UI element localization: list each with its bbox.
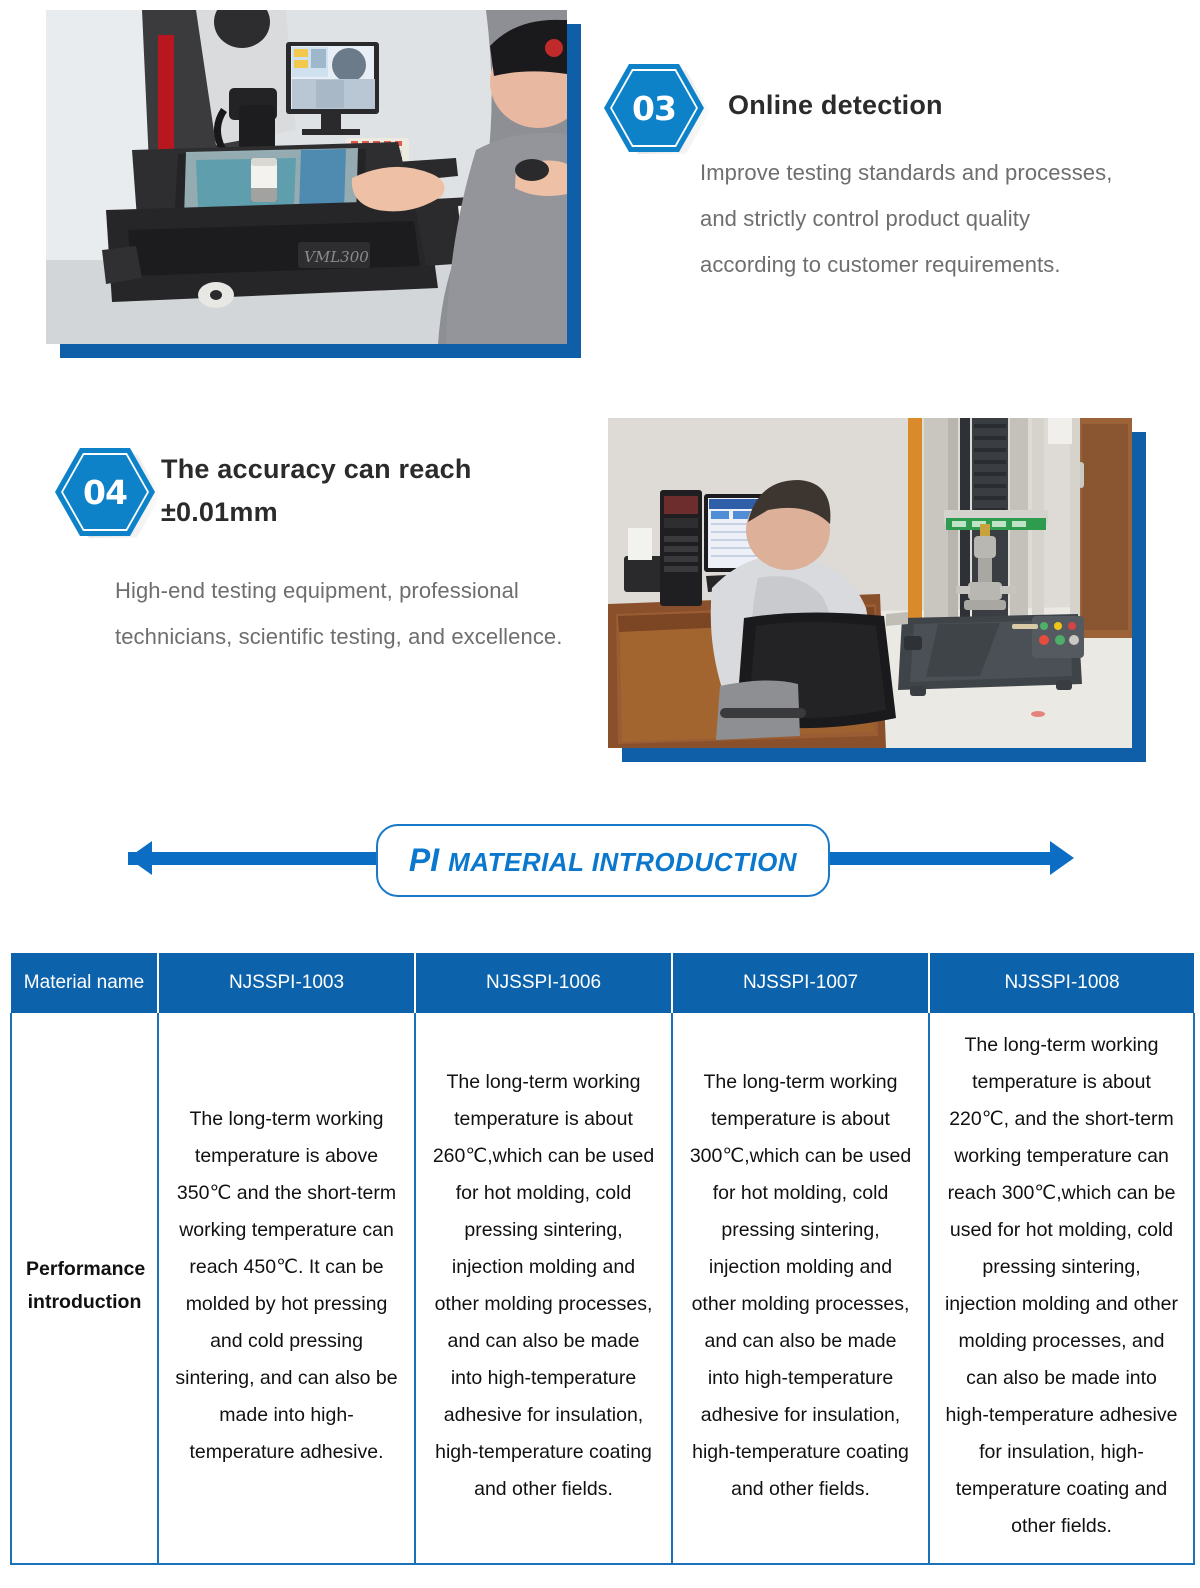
table-header-cell-0: Material name [11, 953, 158, 1013]
divider-arrow-right-head [1050, 841, 1074, 875]
table-header-cell-2: NJSSPI-1006 [415, 953, 672, 1013]
table-cell-njsspi-1008: The long-term working temperature is abo… [929, 1013, 1194, 1564]
table-cell-njsspi-1003: The long-term working temperature is abo… [158, 1013, 415, 1564]
table-cell-njsspi-1007: The long-term working temperature is abo… [672, 1013, 929, 1564]
feature-body-03: Improve testing standards and processes,… [700, 150, 1115, 288]
divider-arrow-left-band [128, 852, 388, 865]
divider-label-primary: PI [409, 842, 439, 878]
table-row-label: Performance introduction [11, 1013, 158, 1564]
photo-image-vision-measuring-machine: VML300 [46, 10, 567, 344]
feature-badge-03: 03 [604, 64, 704, 152]
feature-number-03: 03 [604, 64, 704, 152]
table-row: Performance introduction The long-term w… [11, 1013, 1194, 1564]
divider-arrow-right-band [814, 852, 1050, 865]
photo-accuracy-testing [608, 418, 1146, 762]
table-cell-njsspi-1006: The long-term working temperature is abo… [415, 1013, 672, 1564]
photo-online-detection: VML300 [46, 10, 581, 358]
table-header-row: Material name NJSSPI-1003 NJSSPI-1006 NJ… [11, 953, 1194, 1013]
feature-title-04: The accuracy can reach ±0.01mm [161, 448, 561, 534]
divider-arrow-left-head [128, 841, 152, 875]
divider-label-text: PIMATERIAL INTRODUCTION [409, 842, 797, 879]
feature-title-03: Online detection [728, 84, 1168, 127]
feature-number-04: 04 [55, 448, 155, 536]
pi-material-spec-table: Material name NJSSPI-1003 NJSSPI-1006 NJ… [10, 953, 1195, 1565]
photo-image-tensile-testing-machine [608, 418, 1132, 748]
table-header-cell-4: NJSSPI-1008 [929, 953, 1194, 1013]
svg-text:VML300: VML300 [304, 248, 369, 266]
table-header-cell-3: NJSSPI-1007 [672, 953, 929, 1013]
feature-body-04: High-end testing equipment, professional… [115, 568, 585, 660]
divider-label-secondary: MATERIAL INTRODUCTION [448, 847, 797, 877]
table-header-cell-1: NJSSPI-1003 [158, 953, 415, 1013]
feature-badge-04: 04 [55, 448, 155, 536]
divider-label-box: PIMATERIAL INTRODUCTION [376, 824, 830, 897]
